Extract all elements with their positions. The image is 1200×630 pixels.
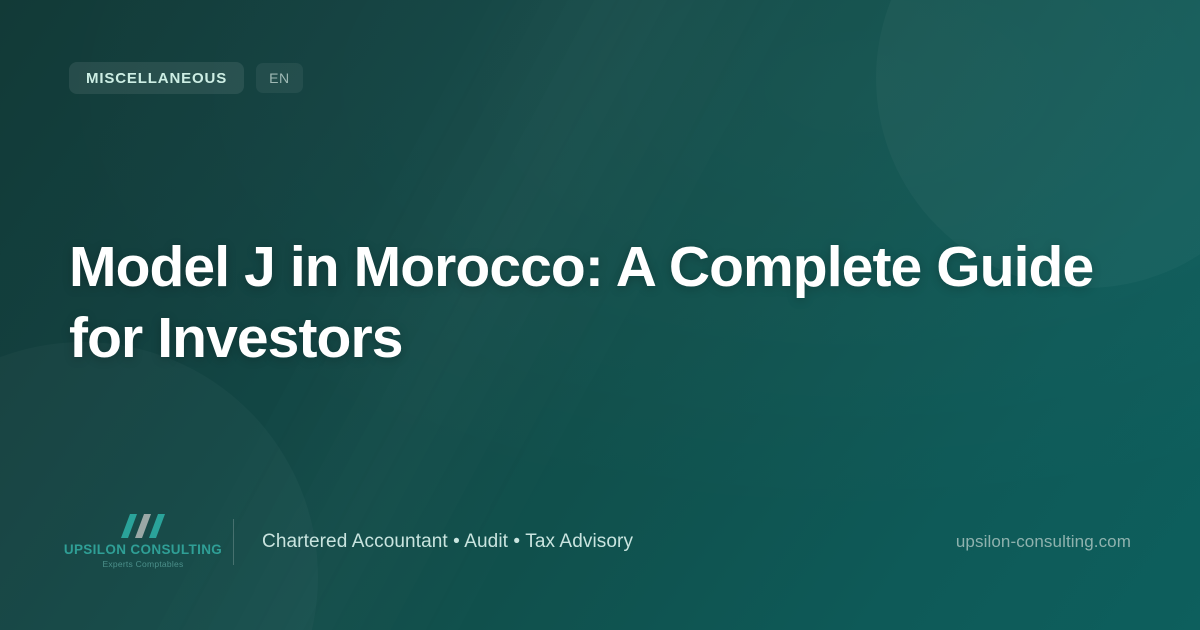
language-badge[interactable]: EN	[256, 63, 303, 93]
card-footer: UPSILON CONSULTING Experts Comptables Ch…	[69, 506, 1131, 578]
page-title: Model J in Morocco: A Complete Guide for…	[69, 232, 1114, 373]
services-list: Chartered Accountant • Audit • Tax Advis…	[262, 531, 633, 553]
footer-divider	[233, 519, 234, 565]
upsilon-logo-icon	[120, 514, 166, 538]
badge-row: MISCELLANEOUS EN	[69, 62, 303, 94]
brand-logo: UPSILON CONSULTING Experts Comptables	[69, 514, 217, 571]
site-url[interactable]: upsilon-consulting.com	[956, 532, 1131, 552]
category-badge[interactable]: MISCELLANEOUS	[69, 62, 244, 94]
social-share-card: MISCELLANEOUS EN Model J in Morocco: A C…	[0, 0, 1200, 630]
brand-tagline: Experts Comptables	[102, 560, 183, 569]
brand-wordmark: UPSILON CONSULTING	[64, 543, 222, 557]
